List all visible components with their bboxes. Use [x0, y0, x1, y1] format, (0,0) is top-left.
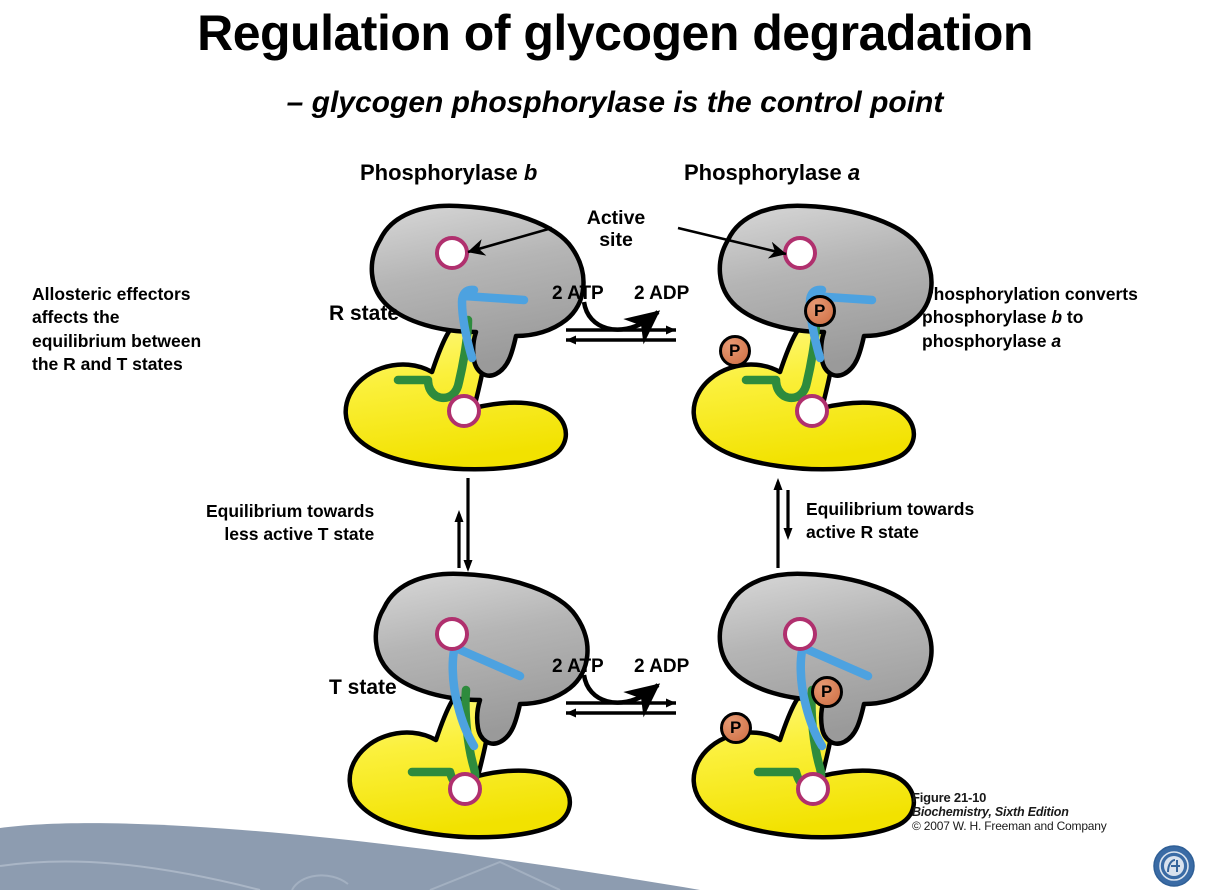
protein-t-state-left [350, 574, 588, 838]
reaction-arrow-bottom [566, 675, 676, 718]
active-site-label-line-2: site [556, 230, 676, 252]
equilibrium-left-line-2: less active T state [206, 523, 374, 546]
equilibrium-left-line-1: Equilibrium towards [206, 500, 374, 523]
phosphate-badge-label-br-gray: P [821, 682, 832, 702]
active-site-label-line-1: Active [556, 208, 676, 230]
figure-number: Figure 21-10 [912, 790, 1107, 805]
up-arrow-head-right [774, 478, 783, 490]
state-label-r: R state [329, 302, 399, 326]
curved-cofactor-arrow-bottom [584, 675, 658, 703]
active-site-circle-bottom [798, 774, 828, 804]
active-site-circle-bottom [450, 774, 480, 804]
active-site-circle-top [785, 238, 815, 268]
reaction-label-atp-top: 2 ATP [552, 283, 604, 305]
state-label-t: T state [329, 676, 397, 700]
phosphate-badge-label-tr-yellow: P [729, 341, 740, 361]
institution-seal-logo [1154, 846, 1194, 886]
phosphate-badge-label-tr-gray: P [814, 301, 825, 321]
curved-cofactor-arrow-top [584, 302, 658, 330]
equilibrium-forward-head-top [666, 326, 676, 335]
active-site-circle-bottom [797, 396, 827, 426]
active-site-circle-top [785, 619, 815, 649]
diagram-graphics [0, 0, 1230, 890]
reaction-label-atp-bottom: 2 ATP [552, 656, 604, 678]
figure-source-book: Biochemistry, Sixth Edition [912, 805, 1107, 819]
protein-phosphorylase-b-r-state [346, 206, 584, 470]
equilibrium-right-line-1: Equilibrium towards [806, 498, 974, 521]
protein-phosphorylase-a-r-state [694, 206, 932, 470]
active-site-circle-top [437, 238, 467, 268]
footer-band-shape [0, 823, 700, 890]
active-site-label: Active site [556, 208, 676, 252]
vertical-equilibrium-left [455, 478, 473, 572]
equilibrium-reverse-head-bottom [566, 709, 576, 718]
protein-t-state-right [694, 574, 932, 838]
reaction-label-adp-top: 2 ADP [634, 283, 689, 305]
equilibrium-caption-left: Equilibrium towards less active T state [206, 500, 374, 546]
footer-decorative-band [0, 823, 700, 890]
down-arrow-head-left [464, 560, 473, 572]
active-site-circle-bottom [449, 396, 479, 426]
vertical-equilibrium-right [774, 478, 793, 568]
equilibrium-right-line-2: active R state [806, 521, 974, 544]
up-arrow-head-left [455, 510, 464, 522]
reaction-label-adp-bottom: 2 ADP [634, 656, 689, 678]
equilibrium-reverse-head-top [566, 336, 576, 345]
equilibrium-forward-head-bottom [666, 699, 676, 708]
active-site-circle-top [437, 619, 467, 649]
equilibrium-caption-right: Equilibrium towards active R state [806, 498, 974, 544]
slide-canvas: Regulation of glycogen degradation – gly… [0, 0, 1230, 890]
phosphate-badge-label-br-yellow: P [730, 718, 741, 738]
reaction-arrow-top [566, 302, 676, 345]
figure-credit: Figure 21-10 Biochemistry, Sixth Edition… [912, 790, 1107, 833]
figure-copyright: © 2007 W. H. Freeman and Company [912, 819, 1107, 833]
down-arrow-head-right [784, 528, 793, 540]
